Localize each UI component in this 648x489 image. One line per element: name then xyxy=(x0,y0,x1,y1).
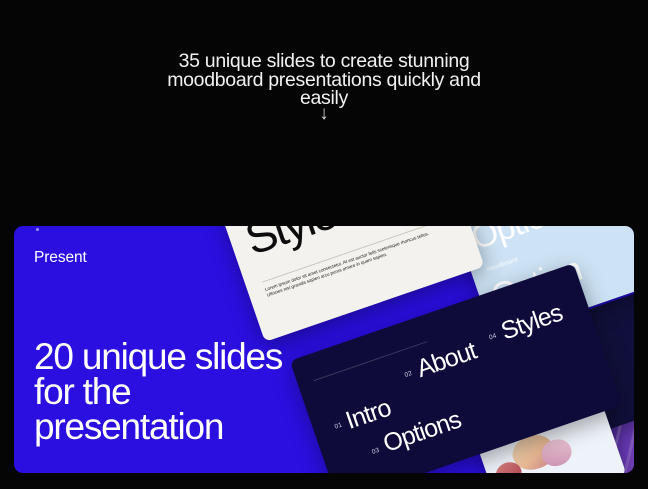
intro-headline: 35 unique slides to create stunning mood… xyxy=(149,52,499,108)
specular-dot xyxy=(36,228,39,231)
menu-item-number: 04 xyxy=(488,332,498,341)
showcase-panel: Option moodboard Option Style Lorem ipsu… xyxy=(14,226,634,473)
menu-item-styles[interactable]: Styles xyxy=(498,301,565,345)
styles-card-title: Style xyxy=(240,226,341,261)
presentation-promo-page: 35 unique slides to create stunning mood… xyxy=(0,0,648,489)
option-word-top: Option xyxy=(467,226,565,255)
menu-item-number: 02 xyxy=(404,370,414,379)
menu-item-number: 03 xyxy=(371,447,381,456)
menu-item-number: 01 xyxy=(334,421,344,430)
panel-label: Present xyxy=(34,249,87,267)
menu-item-about[interactable]: About xyxy=(414,339,480,382)
intro-block: 35 unique slides to create stunning mood… xyxy=(0,52,648,108)
panel-title: 20 unique slides for the presentation xyxy=(34,339,314,444)
menu-item-options[interactable]: Options xyxy=(380,407,464,457)
down-arrow-icon: ↓ xyxy=(0,104,648,123)
